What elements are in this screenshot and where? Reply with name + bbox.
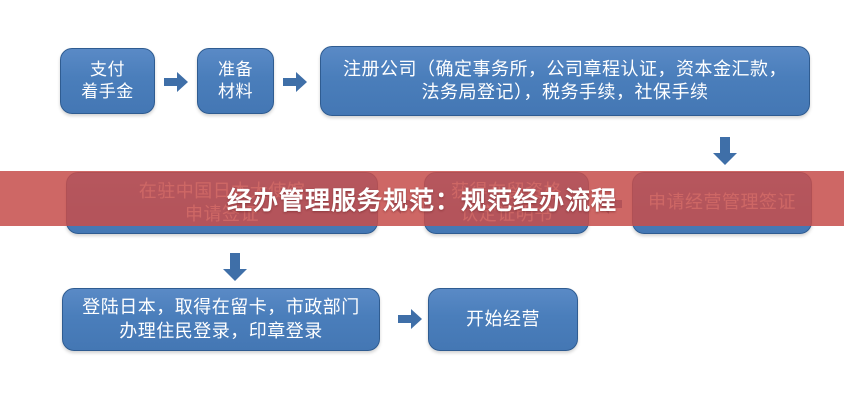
flow-box-start-label: 开始经营	[437, 308, 569, 331]
flow-box-landing[interactable]: 登陆日本，取得在留卡，市政部门 办理住民登录，印章登录	[62, 288, 380, 351]
flow-box-materials-label: 准备 材料	[206, 59, 265, 103]
flowchart-canvas: 支付 着手金 准备 材料 注册公司（确定事务所，公司章程认证，资本金汇款， 法务…	[0, 0, 844, 400]
arrow-down-icon-visaapply-to-landing	[222, 252, 248, 282]
arrow-right-icon-landing-to-start	[396, 307, 424, 331]
flow-box-payment[interactable]: 支付 着手金	[60, 48, 155, 114]
arrow-right-icon-materials-to-registration	[281, 70, 309, 94]
flow-box-registration[interactable]: 注册公司（确定事务所，公司章程认证，资本金汇款， 法务局登记），税务手续，社保手…	[320, 46, 810, 116]
flow-box-landing-label: 登陆日本，取得在留卡，市政部门 办理住民登录，印章登录	[71, 296, 371, 342]
title-banner: 经办管理服务规范：规范经办流程	[0, 171, 844, 226]
flow-box-start[interactable]: 开始经营	[428, 288, 578, 351]
arrow-down-icon-registration-to-visa	[712, 136, 738, 166]
flow-box-registration-label: 注册公司（确定事务所，公司章程认证，资本金汇款， 法务局登记），税务手续，社保手…	[329, 58, 801, 104]
flow-box-payment-label: 支付 着手金	[69, 59, 146, 103]
flow-box-materials[interactable]: 准备 材料	[197, 48, 274, 114]
banner-title-text: 经办管理服务规范：规范经办流程	[227, 181, 617, 217]
arrow-right-icon-payment-to-materials	[162, 70, 190, 94]
